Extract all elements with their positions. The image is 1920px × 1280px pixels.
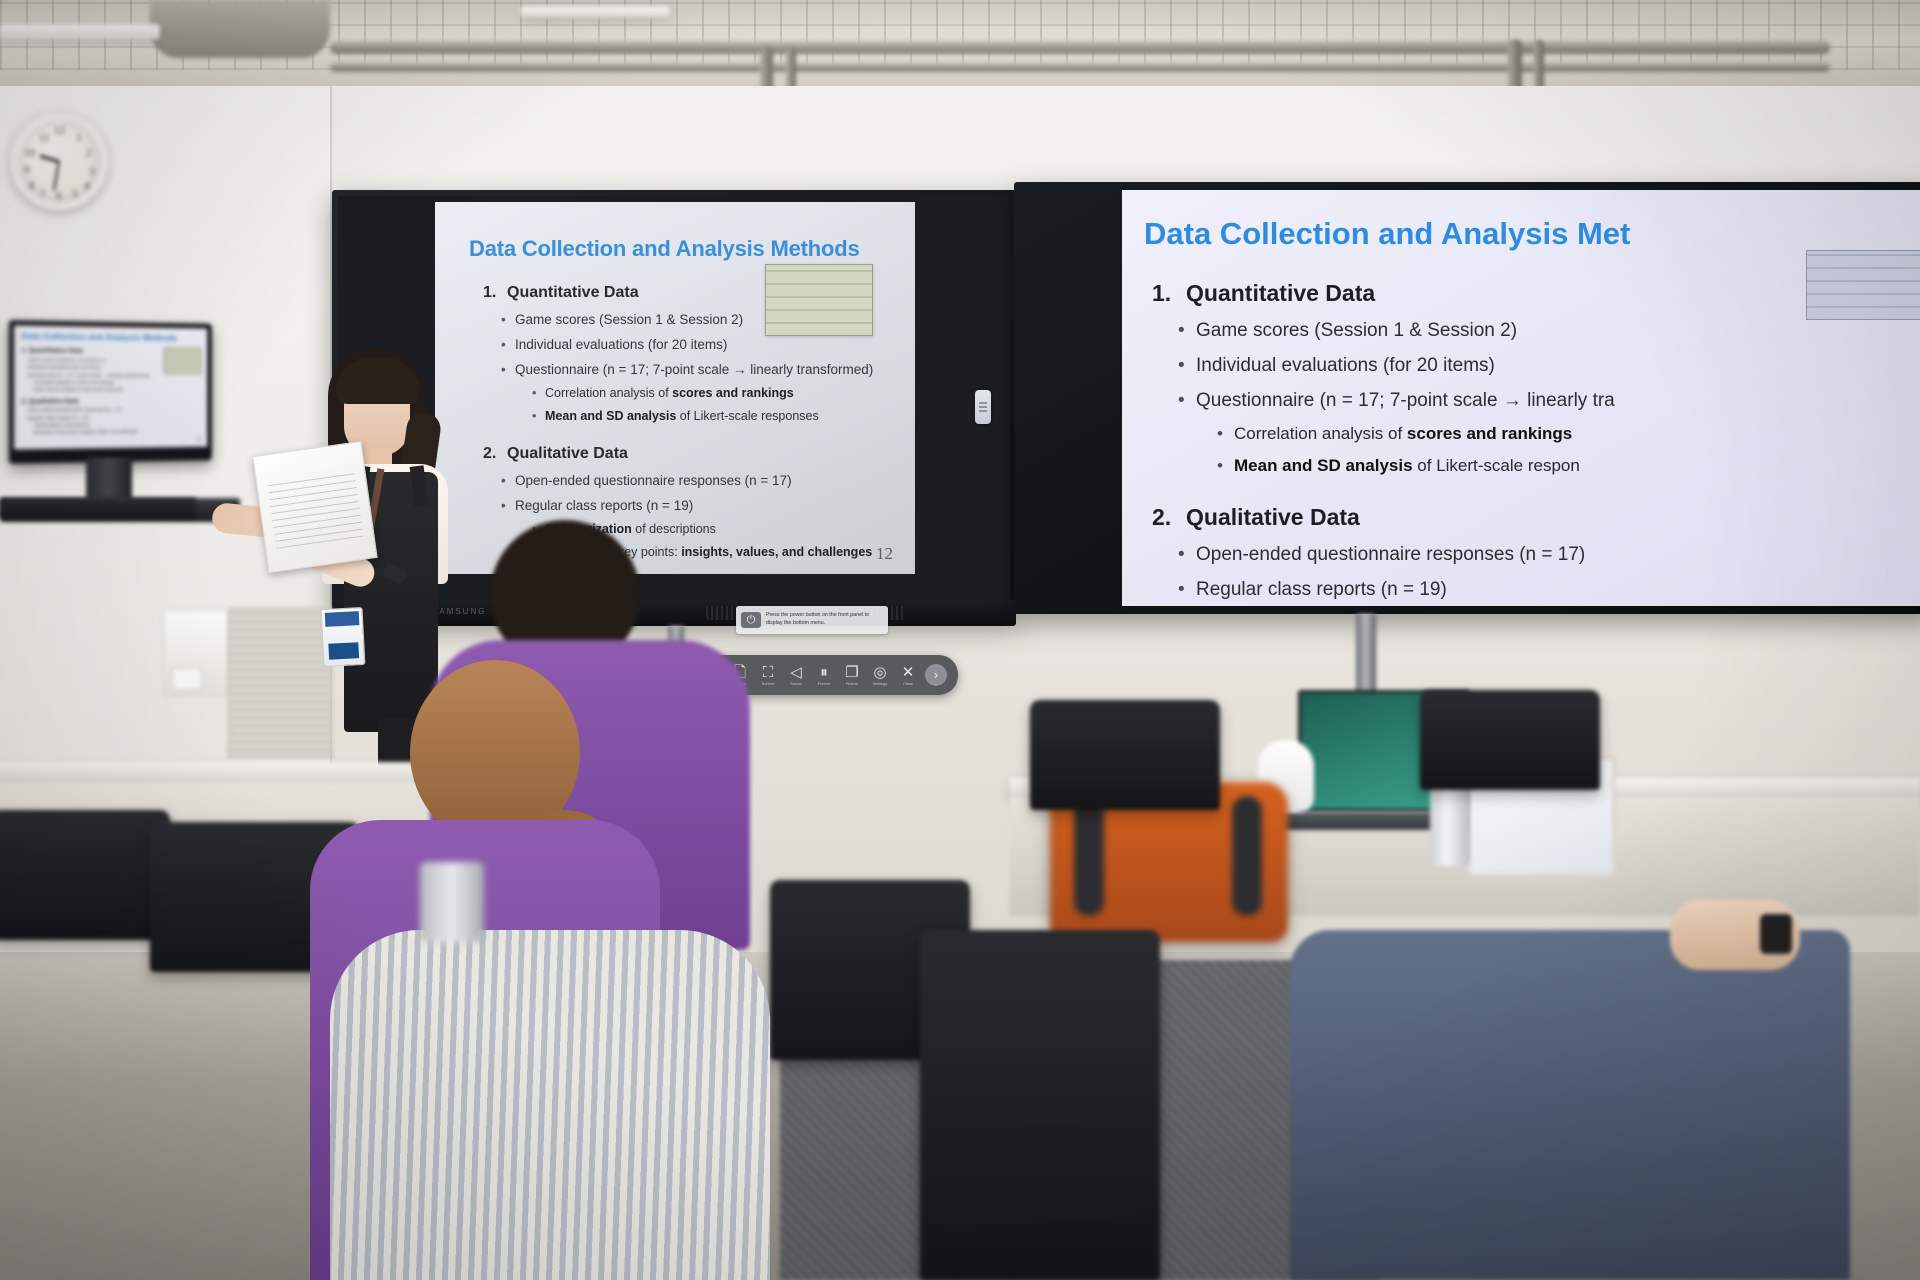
- chair: [920, 930, 1160, 1280]
- clock-number: 12: [54, 125, 65, 137]
- audience-jeans: [1290, 930, 1850, 1280]
- audience-member-striped-shirt: [330, 930, 770, 1280]
- section-title: Quantitative Data: [1186, 280, 1375, 306]
- audience-torso-striped: [330, 930, 770, 1280]
- clock-number: 9: [24, 164, 30, 176]
- podium-bullet: Extraction of key points: insights, valu…: [34, 428, 201, 435]
- clock-number: 5: [72, 188, 78, 200]
- close-icon: ✕: [902, 665, 915, 680]
- podium-keyboard[interactable]: [0, 498, 196, 518]
- osd-button-next[interactable]: ›: [922, 664, 950, 686]
- badge-header: [325, 611, 360, 627]
- ceiling-pipe: [330, 40, 1830, 54]
- section-title: Quantitative Data: [507, 284, 639, 301]
- podium-monitor-stand: [86, 458, 132, 502]
- section-title: Qualitative Data: [1186, 504, 1360, 530]
- ceiling-duct: [150, 0, 330, 58]
- clock-number: 8: [29, 180, 35, 192]
- chair: [1420, 690, 1600, 790]
- clock-number: 3: [89, 166, 95, 178]
- osd-label: Sound: [790, 681, 802, 686]
- screen-size-icon: ⛶: [763, 665, 774, 680]
- right-slide-bullet: Game scores (Session 1 & Session 2): [1196, 320, 1920, 342]
- slide-bullet: Open-ended questionnaire responses (n = …: [515, 473, 897, 488]
- podium-bullet: Regular class reports (n = 19): [27, 414, 200, 420]
- right-slide-bullet: Open-ended questionnaire responses (n = …: [1196, 544, 1920, 566]
- chair: [0, 810, 170, 940]
- presenter-name-badge: [321, 607, 366, 667]
- podium-page-number: 12: [196, 437, 201, 443]
- presenter-notes-paper: [252, 441, 377, 573]
- classroom-scene: 12 1 2 3 4 5 6 7 8 9 10 11 Data Collecti…: [0, 0, 1920, 1280]
- section-number: 2.: [1152, 504, 1186, 531]
- osd-button-picture[interactable]: ❐ Picture: [838, 665, 866, 686]
- podium-bullet: Correlation analysis of scores and ranki…: [34, 379, 201, 384]
- slide-page-number: 12: [876, 544, 893, 564]
- osd-tooltip: ⏻ Press the power button on the front pa…: [736, 606, 888, 634]
- osd-tooltip-text: Press the power button on the front pane…: [766, 612, 883, 628]
- right-display[interactable]: Data Collection and Analysis Met 1.Quant…: [1014, 182, 1920, 614]
- clock-number: 6: [56, 190, 62, 202]
- slide-bullet: Questionnaire (n = 17; 7-point scale → l…: [515, 362, 897, 377]
- podium-section-2: 2. Qualitative Data: [21, 397, 200, 404]
- osd-label: Picture: [846, 681, 858, 686]
- clock-number: 10: [24, 147, 35, 159]
- osd-label: Settings: [873, 681, 887, 686]
- right-slide-bullet: Individual evaluations (for 20 items): [1196, 355, 1920, 377]
- audience-member-right-jeans: [1290, 900, 1920, 1280]
- osd-button-settings[interactable]: ◎ Settings: [866, 665, 894, 686]
- settings-icon: ◎: [873, 665, 886, 680]
- slide-bullet: Game scores (Session 1 & Session 2): [515, 312, 897, 327]
- podium-bullet: Open-ended questionnaire responses (n = …: [27, 407, 200, 413]
- ceiling-pipe: [330, 62, 1830, 72]
- right-slide: Data Collection and Analysis Met 1.Quant…: [1122, 190, 1920, 606]
- clock-hour-hand: [39, 155, 59, 163]
- right-section-heading-1: 1.Quantitative Data: [1152, 280, 1920, 307]
- clock-face: 12 1 2 3 4 5 6 7 8 9 10 11: [20, 122, 98, 200]
- osd-button-screen[interactable]: ⛶ Screen: [754, 665, 782, 686]
- picture-icon: ❐: [845, 665, 858, 680]
- clock-number: 2: [86, 147, 92, 159]
- clock-number: 1: [76, 132, 82, 144]
- osd-label: Close: [903, 681, 913, 686]
- podium-monitor[interactable]: Data Collection and Analysis Methods 1. …: [9, 320, 212, 464]
- osd-button-close[interactable]: ✕ Close: [894, 665, 922, 686]
- chair: [1030, 700, 1220, 810]
- backpack-strap: [1232, 796, 1262, 916]
- osd-button-freeze[interactable]: ⏸ Freeze: [810, 665, 838, 686]
- backpack-strap: [1074, 796, 1104, 916]
- presenter-bangs: [336, 358, 420, 404]
- podium-bullet: Mean and SD analysis of Likert-scale res…: [34, 386, 201, 391]
- display-side-control-button[interactable]: [975, 390, 991, 424]
- ceiling-light: [520, 6, 670, 18]
- right-section-heading-2: 2.Qualitative Data: [1152, 504, 1920, 531]
- osd-button-sound[interactable]: ◁ Sound: [782, 665, 810, 686]
- osd-label: Screen: [762, 681, 775, 686]
- slide-bullet: Regular class reports (n = 19): [515, 498, 897, 513]
- podium-slide-photo: [164, 348, 202, 375]
- next-icon: ›: [925, 664, 947, 686]
- slide-bullet: Individual evaluations (for 20 items): [515, 337, 897, 352]
- osd-label: Freeze: [818, 681, 830, 686]
- clock-number: 4: [84, 180, 90, 192]
- section-number: 1.: [483, 284, 507, 302]
- section-number: 1.: [1152, 280, 1186, 307]
- notes-text-lines: [267, 467, 364, 549]
- slide-section-heading-2: 2.Qualitative Data: [483, 445, 897, 463]
- center-slide: Data Collection and Analysis Methods 1.Q…: [435, 202, 915, 574]
- right-slide-sub-bullet: Correlation analysis of scores and ranki…: [1234, 424, 1920, 444]
- podium-bullet: Categorization of descriptions: [34, 421, 201, 427]
- badge-color-bar: [328, 642, 359, 660]
- audience-wristwatch: [1760, 914, 1792, 954]
- podium-slide-title: Data Collection and Analysis Methods: [21, 331, 200, 343]
- right-slide-sub-bullet: Mean and SD analysis of Likert-scale res…: [1234, 456, 1920, 476]
- right-slide-photo-thumbnail: [1806, 250, 1920, 320]
- podium-screen: Data Collection and Analysis Methods 1. …: [14, 325, 207, 449]
- right-slide-bullet: Regular class reports (n = 19): [1196, 579, 1920, 601]
- freeze-icon: ⏸: [820, 665, 828, 680]
- clock-minute-hand: [53, 161, 60, 191]
- slide-sub-bullet: Correlation analysis of scores and ranki…: [545, 386, 897, 400]
- section-title: Qualitative Data: [507, 445, 628, 462]
- slide-title: Data Collection and Analysis Methods: [469, 236, 897, 262]
- wall-clock: 12 1 2 3 4 5 6 7 8 9 10 11: [10, 112, 108, 210]
- right-slide-title: Data Collection and Analysis Met: [1144, 216, 1920, 252]
- clock-number: 11: [39, 132, 50, 144]
- thermos-cup: [420, 862, 484, 942]
- right-slide-bullet: Questionnaire (n = 17; 7-point scale → l…: [1196, 390, 1920, 412]
- volume-icon: ◁: [790, 665, 802, 680]
- clock-number: 7: [40, 188, 46, 200]
- ceiling-light: [0, 24, 160, 40]
- wall-outlet: [172, 668, 202, 690]
- slide-sub-bullet: Mean and SD analysis of Likert-scale res…: [545, 409, 897, 423]
